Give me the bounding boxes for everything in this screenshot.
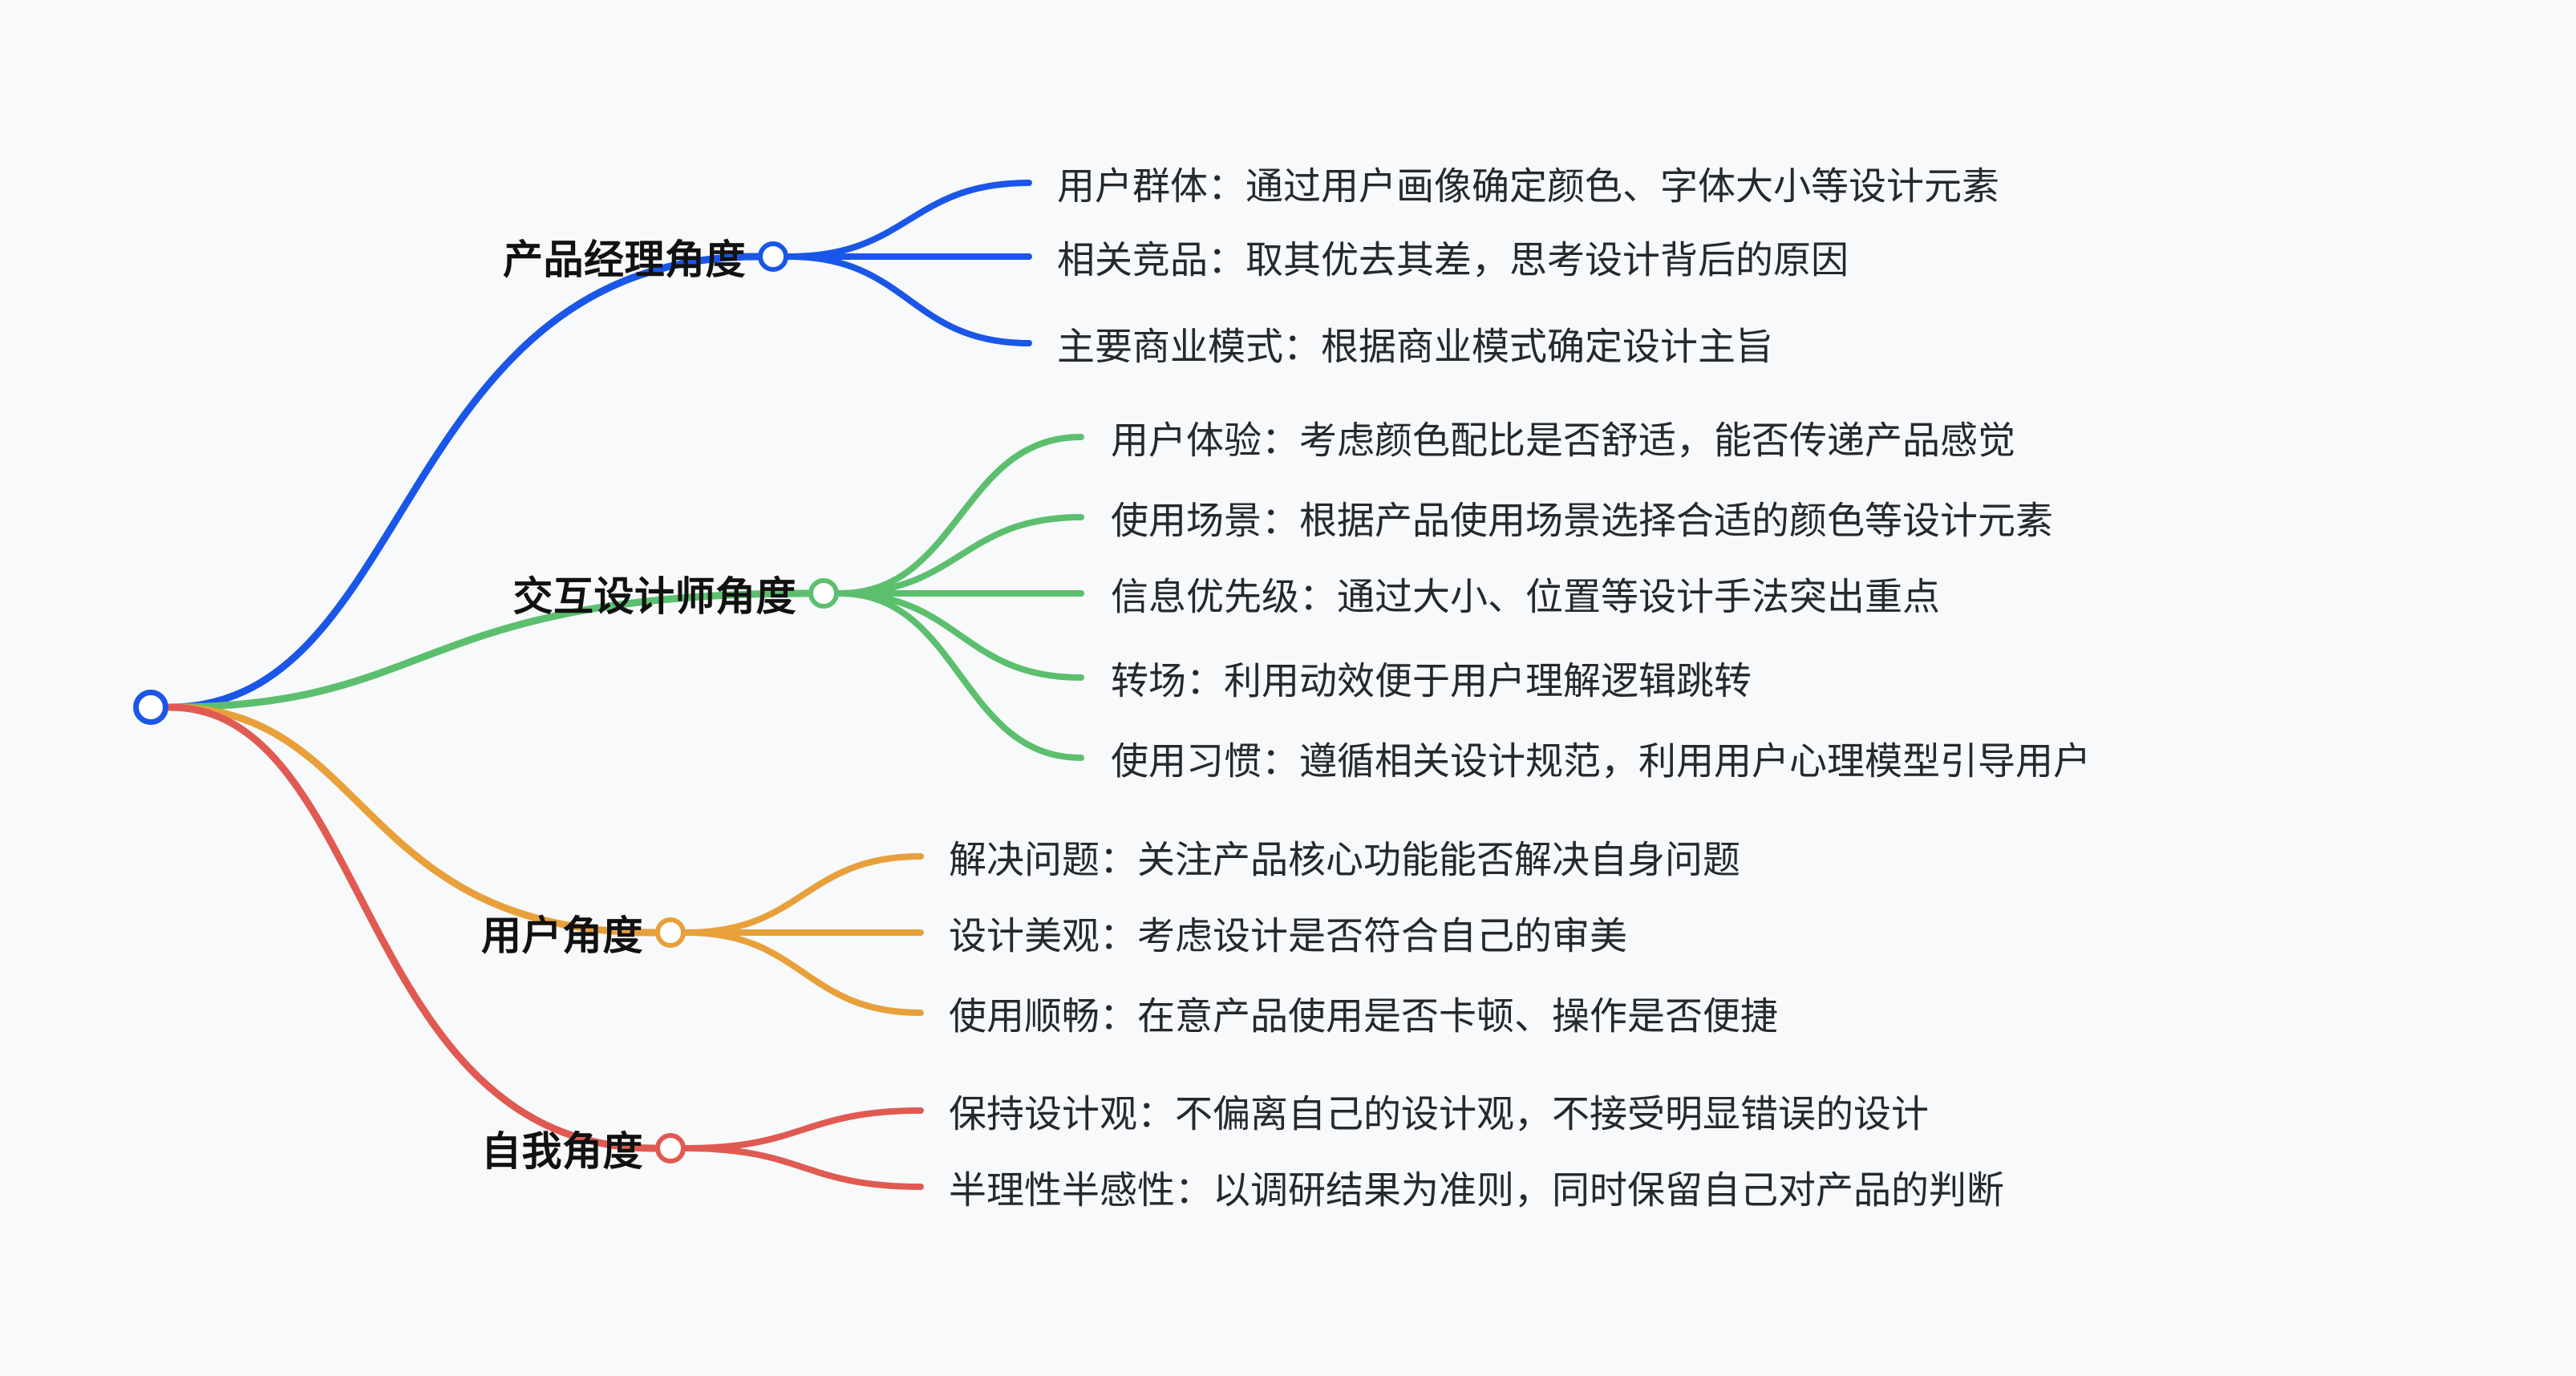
mindmap-canvas: 产品经理角度 交互设计师角度 用户角度 自我角度 用户群体：通过用户画像确定颜色… bbox=[0, 0, 2576, 1376]
branch-node-self[interactable] bbox=[655, 1133, 686, 1164]
leaf-label[interactable]: 用户群体：通过用户画像确定颜色、字体大小等设计元素 bbox=[1057, 156, 1999, 211]
leaf-label[interactable]: 使用顺畅：在意产品使用是否卡顿、操作是否便捷 bbox=[949, 985, 1778, 1041]
branch-label-user[interactable]: 用户角度 bbox=[0, 904, 643, 961]
branch-label-product-manager[interactable]: 产品经理角度 bbox=[0, 228, 746, 285]
leaf-label[interactable]: 主要商业模式：根据商业模式确定设计主旨 bbox=[1057, 316, 1773, 371]
leaf-label[interactable]: 信息优先级：通过大小、位置等设计手法突出重点 bbox=[1111, 566, 1940, 621]
leaf-label[interactable]: 使用场景：根据产品使用场景选择合适的颜色等设计元素 bbox=[1111, 490, 2053, 545]
leaf-label[interactable]: 相关竞品：取其优去其差，思考设计背后的原因 bbox=[1057, 229, 1849, 285]
leaf-label[interactable]: 半理性半感性：以调研结果为准则，同时保留自己对产品的判断 bbox=[949, 1159, 2004, 1215]
leaf-label[interactable]: 解决问题：关注产品核心功能能否解决自身问题 bbox=[949, 829, 1740, 884]
branch-node-user[interactable] bbox=[655, 917, 686, 948]
branch-label-interaction-designer[interactable]: 交互设计师角度 bbox=[0, 565, 796, 622]
leaf-label[interactable]: 设计美观：考虑设计是否符合自己的审美 bbox=[949, 905, 1627, 961]
leaf-label[interactable]: 使用习惯：遵循相关设计规范，利用用户心理模型引导用户 bbox=[1111, 730, 2091, 786]
leaf-label[interactable]: 用户体验：考虑颜色配比是否舒适，能否传递产品感觉 bbox=[1111, 410, 2015, 465]
leaf-label[interactable]: 转场：利用动效便于用户理解逻辑跳转 bbox=[1111, 650, 1752, 706]
branch-node-product-manager[interactable] bbox=[758, 241, 788, 272]
root-node[interactable] bbox=[133, 690, 168, 725]
branch-label-self[interactable]: 自我角度 bbox=[0, 1119, 643, 1177]
leaf-label[interactable]: 保持设计观：不偏离自己的设计观，不接受明显错误的设计 bbox=[949, 1083, 1929, 1139]
branch-node-interaction-designer[interactable] bbox=[808, 578, 839, 609]
